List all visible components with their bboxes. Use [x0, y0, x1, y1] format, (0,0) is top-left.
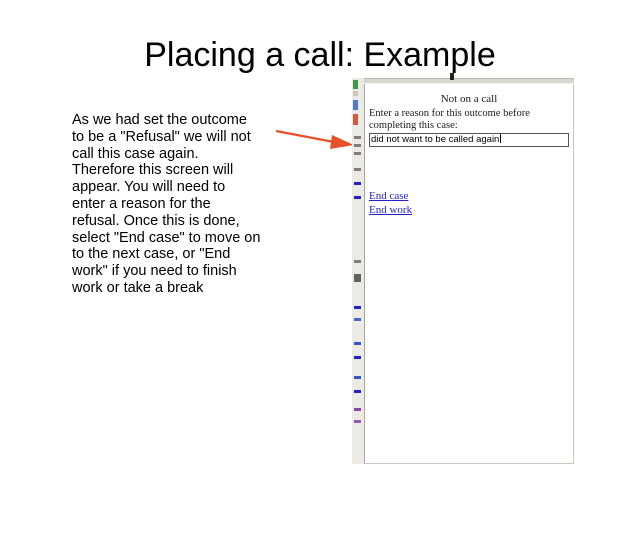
sliver-chip-red	[353, 114, 358, 125]
reason-input[interactable]: did not want to be called again	[369, 133, 569, 147]
sliver-link-frag	[354, 420, 361, 423]
sliver-link-frag	[354, 408, 361, 411]
end-case-link[interactable]: End case	[369, 190, 408, 202]
sliver-text-frag	[354, 260, 361, 263]
sliver-chip-grey	[353, 91, 358, 96]
arrow-shaft	[276, 131, 334, 142]
arrow-head	[330, 135, 354, 149]
sliver-text-frag	[354, 152, 361, 155]
window-chrome-nub	[450, 73, 454, 80]
page-title: Placing a call: Example	[0, 36, 640, 75]
sliver-link-frag	[354, 356, 361, 359]
end-work-link[interactable]: End work	[369, 204, 412, 216]
sliver-link-frag	[354, 182, 361, 185]
app-window: Not on a call Enter a reason for this ou…	[352, 78, 574, 464]
slide-body-text: As we had set the outcome to be a "Refus…	[72, 112, 262, 297]
sliver-chip-blue	[353, 100, 358, 110]
underlying-window-sliver	[352, 78, 364, 464]
sliver-text-frag	[354, 136, 361, 139]
not-on-call-heading: Not on a call	[365, 93, 573, 105]
sliver-text-frag	[354, 168, 361, 171]
reason-input-value: did not want to be called again	[371, 134, 499, 145]
sliver-link-frag	[354, 376, 361, 379]
sliver-link-frag	[354, 390, 361, 393]
sliver-link-frag	[354, 342, 361, 345]
sliver-chip-green	[353, 80, 358, 89]
red-arrow-icon	[270, 118, 365, 158]
sliver-link-frag	[354, 318, 361, 321]
sliver-text-frag	[354, 274, 361, 282]
sliver-text-frag	[354, 144, 361, 147]
text-caret	[500, 134, 501, 143]
sliver-link-frag	[354, 306, 361, 309]
sliver-link-frag	[354, 196, 361, 199]
reason-label: Enter a reason for this outcome before c…	[369, 108, 571, 132]
app-screenshot: Not on a call Enter a reason for this ou…	[352, 78, 574, 464]
app-content-pane: Not on a call Enter a reason for this ou…	[364, 84, 574, 464]
